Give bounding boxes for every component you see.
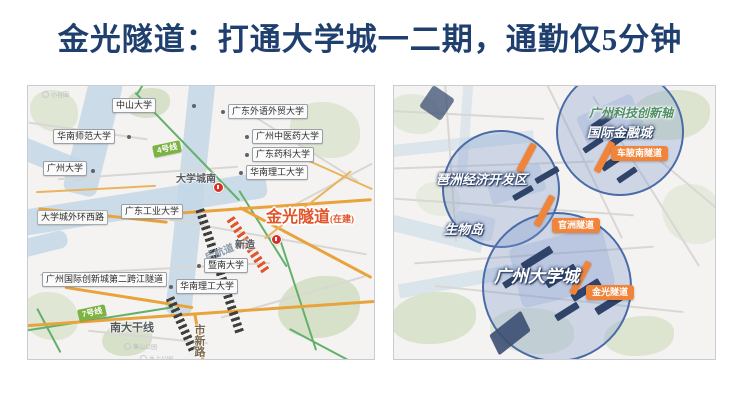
station-marker-xinzao[interactable]	[271, 234, 282, 245]
page-title: 金光隧道：打通大学城一二期，通勤仅5分钟	[0, 14, 740, 59]
poi-jiaoshan-park: 蕉山公园	[124, 342, 157, 351]
label-daxuecheng-west-ring-road[interactable]: 大学城外环西路	[37, 210, 108, 225]
zone-label-pazhou: 琶洲经济开发区	[436, 169, 527, 188]
label-gzucm[interactable]: 广州中医药大学	[252, 129, 323, 144]
label-zhongshan-university[interactable]: 中山大学	[112, 98, 156, 113]
jinguang-tunnel-title: 金光隧道(在建)	[266, 203, 354, 227]
jinguang-tunnel-status: (在建)	[330, 214, 354, 224]
poi-dot-zhongshan	[192, 104, 196, 108]
poi-dot-scnu	[127, 135, 131, 139]
jinguang-tunnel-name: 金光隧道	[266, 209, 330, 226]
right-map-panel[interactable]: 国际金融城 琶洲经济开发区 生物岛 广州大学城 广州科技创新轴 车陂南隧道 官洲…	[393, 85, 716, 360]
label-scut-north[interactable]: 华南理工大学	[246, 165, 308, 180]
poi-dot-gzhu	[91, 169, 95, 173]
road-label-shixinlu: 市新路	[191, 324, 207, 357]
tunnel-badge-jinguang[interactable]: 金光隧道	[586, 285, 634, 300]
poi-xiaoguwei: 小谷围	[42, 90, 69, 99]
zone-label-ifc: 国际金融城	[587, 122, 652, 141]
left-map-panel[interactable]: 金光隧道(在建) 4号线 7号线 大学城南 新造 后航道 南大干线 市新路 中山…	[27, 85, 375, 360]
label-scnu[interactable]: 华南师范大学	[53, 129, 115, 144]
poi-dot-gdpu	[245, 153, 249, 157]
label-guangzhou-university[interactable]: 广州大学	[43, 161, 87, 176]
label-gdufs[interactable]: 广东外语外贸大学	[228, 104, 308, 119]
zone-label-biodao: 生物岛	[444, 219, 483, 238]
label-jinan-university[interactable]: 暨南大学	[204, 258, 248, 273]
label-gdut[interactable]: 广东工业大学	[121, 204, 183, 219]
tunnel-badge-chebeinan[interactable]: 车陂南隧道	[611, 146, 668, 161]
station-label-xinzao: 新造	[235, 236, 255, 251]
axis-label-innovation: 广州科技创新轴	[589, 104, 673, 121]
poi-water-park: 水上公园	[140, 354, 173, 360]
poi-dot-gdufs	[221, 110, 225, 114]
station-label-daxuechengnan: 大学城南	[176, 170, 216, 185]
tunnel-badge-guanzhou[interactable]: 官洲隧道	[552, 218, 600, 233]
poi-dot-gzucm	[245, 135, 249, 139]
label-second-cross-river-tunnel[interactable]: 广州国际创新城第二跨江隧道	[42, 272, 167, 287]
poi-dot-jnu	[197, 264, 201, 268]
green-area-r-e	[662, 184, 716, 244]
zone-label-daxuecheng: 广州大学城	[494, 262, 579, 287]
green-area-r-sw	[393, 292, 476, 344]
poi-dot-scut-south	[169, 285, 173, 289]
station-marker-daxuechengnan[interactable]	[213, 182, 224, 193]
road-label-nandaganxian: 南大干线	[110, 319, 154, 335]
label-scut-south[interactable]: 华南理工大学	[176, 279, 238, 294]
green-area-sw	[27, 292, 78, 340]
label-gdpu[interactable]: 广东药科大学	[252, 147, 314, 162]
poi-dot-scut-north	[239, 171, 243, 175]
